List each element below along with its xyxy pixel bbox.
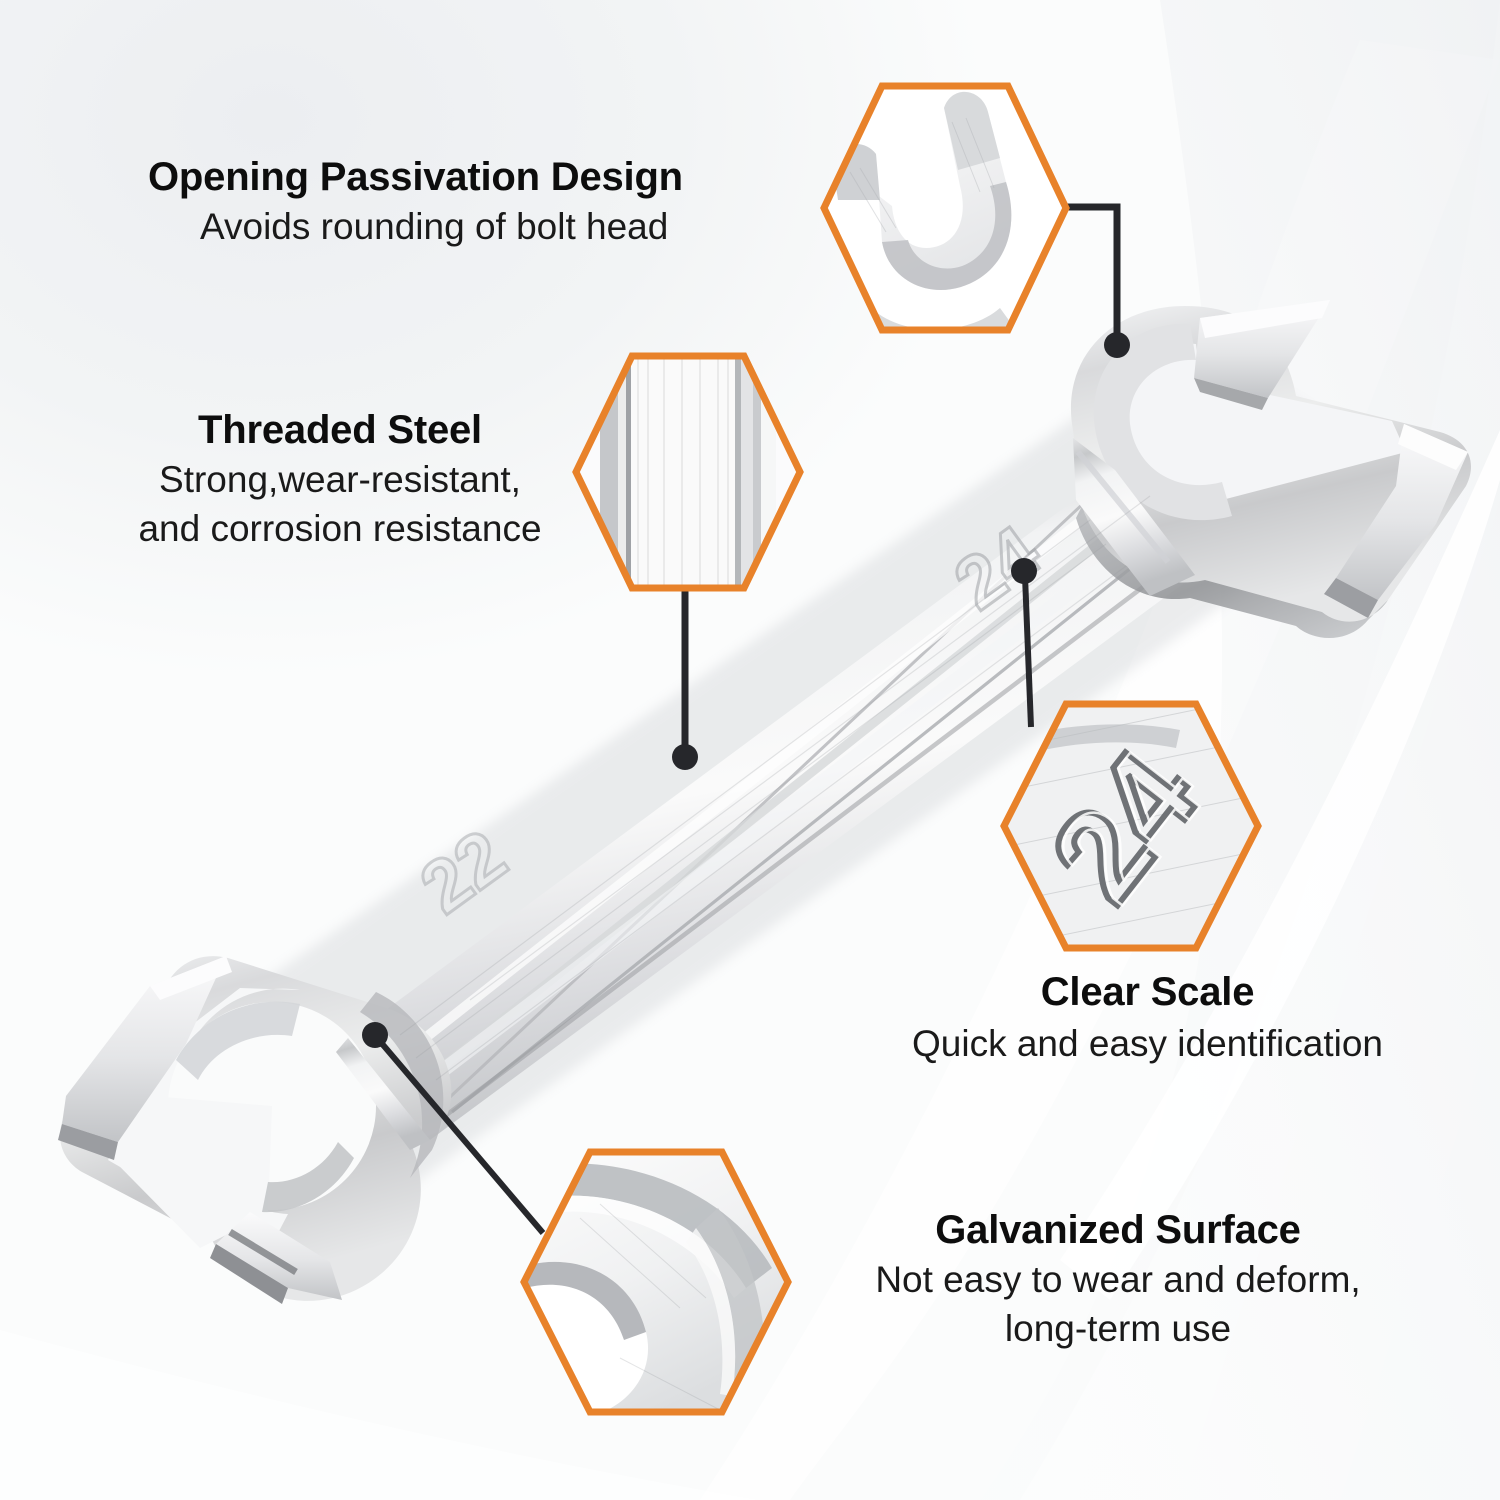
connector-dot-clearscale: [1011, 558, 1037, 584]
connector-dot-threaded: [672, 744, 698, 770]
callout-subtitle-galvanized-surface-line2: long-term use: [818, 1306, 1418, 1351]
callout-subtitle-threaded-steel-line2: and corrosion resistance: [110, 506, 570, 551]
callout-title-galvanized-surface: Galvanized Surface: [818, 1208, 1418, 1253]
callout-title-threaded-steel: Threaded Steel: [110, 408, 570, 453]
connector-dot-galvanized: [362, 1022, 388, 1048]
callout-title-clear-scale: Clear Scale: [875, 970, 1420, 1015]
connector-dot-passivation: [1104, 332, 1130, 358]
callout-title-opening-passivation: Opening Passivation Design: [148, 155, 683, 200]
callout-threaded-steel: Threaded Steel Strong,wear-resistant, an…: [110, 408, 570, 551]
callout-opening-passivation-design: Opening Passivation Design Avoids roundi…: [148, 155, 683, 249]
callout-subtitle-galvanized-surface-line1: Not easy to wear and deform,: [818, 1257, 1418, 1302]
callout-subtitle-threaded-steel-line1: Strong,wear-resistant,: [110, 457, 570, 502]
callout-clear-scale: Clear Scale Quick and easy identificatio…: [875, 970, 1420, 1066]
callout-subtitle-opening-passivation: Avoids rounding of bolt head: [148, 204, 683, 249]
callout-galvanized-surface: Galvanized Surface Not easy to wear and …: [818, 1208, 1418, 1351]
callout-subtitle-clear-scale: Quick and easy identification: [875, 1021, 1420, 1066]
infographic-canvas: 24 22: [0, 0, 1500, 1500]
